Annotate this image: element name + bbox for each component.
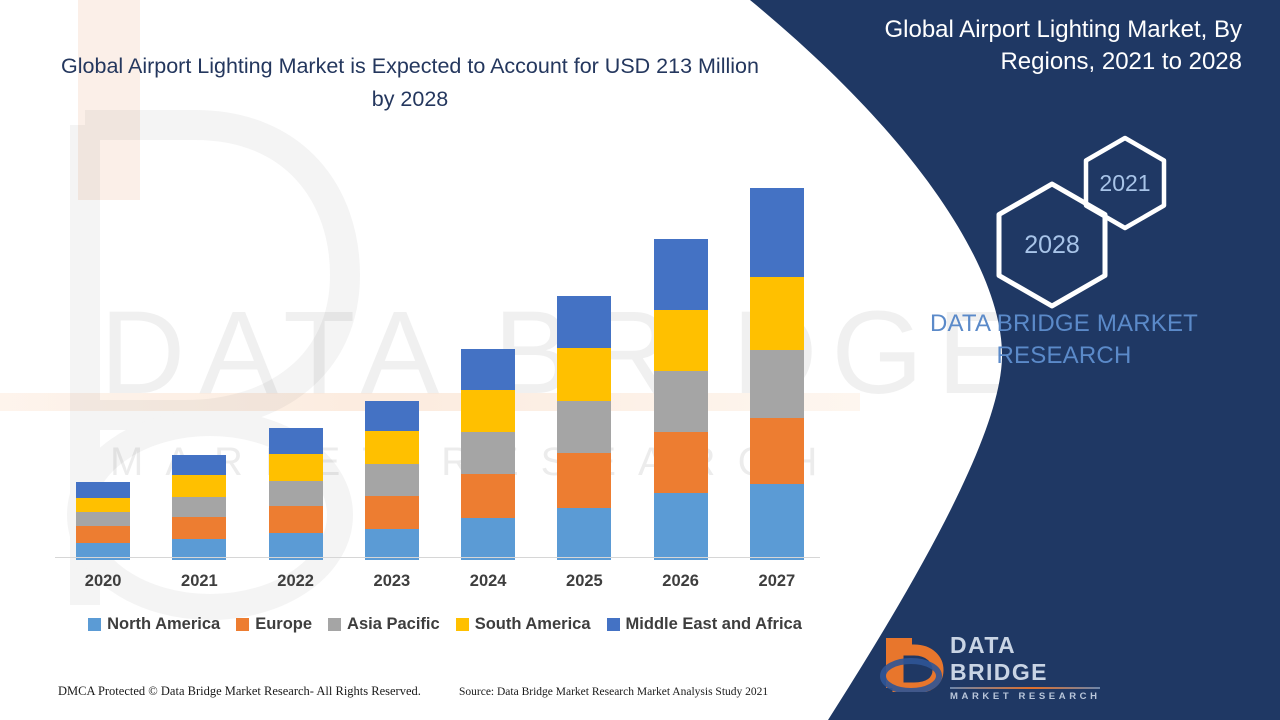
x-tick-2027: 2027 (737, 572, 817, 591)
bar-segment (172, 455, 226, 475)
bar-segment (269, 481, 323, 506)
bar-segment (557, 296, 611, 348)
bar-2022 (269, 428, 323, 560)
bar-segment (365, 401, 419, 431)
legend-swatch-icon (88, 618, 101, 631)
bar-segment (461, 518, 515, 560)
bar-2020 (76, 482, 130, 560)
bar-segment (461, 390, 515, 432)
x-tick-2021: 2021 (159, 572, 239, 591)
bar-segment (365, 464, 419, 496)
bar-segment (654, 239, 708, 310)
bar-segment (654, 493, 708, 560)
legend-swatch-icon (456, 618, 469, 631)
bar-segment (172, 517, 226, 539)
chart-legend: North AmericaEuropeAsia PacificSouth Ame… (55, 615, 835, 634)
legend-item-asia-pacific[interactable]: Asia Pacific (328, 615, 440, 634)
bar-2025 (557, 296, 611, 560)
bar-segment (365, 496, 419, 529)
bar-2024 (461, 349, 515, 560)
bar-segment (654, 310, 708, 371)
bar-segment (269, 454, 323, 481)
logo-divider (950, 687, 1100, 689)
x-tick-2024: 2024 (448, 572, 528, 591)
bar-segment (269, 506, 323, 533)
bar-2027 (750, 188, 804, 560)
legend-label: South America (475, 615, 591, 634)
legend-item-south-america[interactable]: South America (456, 615, 591, 634)
company-logo: DATA BRIDGE MARKET RESEARCH (878, 630, 1108, 692)
bar-segment (557, 348, 611, 401)
bar-2023 (365, 401, 419, 560)
bar-segment (750, 484, 804, 560)
legend-label: North America (107, 615, 220, 634)
legend-label: Asia Pacific (347, 615, 440, 634)
bar-segment (76, 482, 130, 498)
bar-segment (269, 533, 323, 560)
bar-segment (365, 529, 419, 560)
bar-segment (365, 431, 419, 464)
legend-item-north-america[interactable]: North America (88, 615, 220, 634)
legend-label: Middle East and Africa (626, 615, 802, 634)
x-tick-2023: 2023 (352, 572, 432, 591)
bar-segment (269, 428, 323, 454)
bar-segment (461, 432, 515, 474)
x-tick-2026: 2026 (641, 572, 721, 591)
bar-segment (461, 474, 515, 518)
bar-chart-plot-area (55, 170, 825, 560)
footer-source: Source: Data Bridge Market Research Mark… (459, 686, 768, 698)
x-tick-2025: 2025 (544, 572, 624, 591)
bar-segment (557, 508, 611, 560)
bar-segment (654, 371, 708, 432)
bar-segment (750, 418, 804, 484)
brand-name: DATA BRIDGE MARKET RESEARCH (884, 308, 1244, 373)
bar-segment (750, 350, 804, 418)
bar-segment (172, 497, 226, 517)
bar-2021 (172, 455, 226, 560)
bar-segment (750, 188, 804, 277)
bar-segment (76, 498, 130, 512)
logo-text-block: DATA BRIDGE MARKET RESEARCH (950, 632, 1108, 702)
bar-segment (557, 401, 611, 453)
legend-item-middle-east-and-africa[interactable]: Middle East and Africa (607, 615, 802, 634)
bar-segment (172, 475, 226, 497)
x-tick-2020: 2020 (63, 572, 143, 591)
legend-swatch-icon (607, 618, 620, 631)
logo-title: DATA BRIDGE (950, 632, 1108, 686)
bar-segment (557, 453, 611, 508)
bar-segment (76, 512, 130, 526)
panel-title: Global Airport Lighting Market, By Regio… (842, 14, 1242, 78)
logo-subtitle: MARKET RESEARCH (950, 691, 1108, 702)
x-axis-line (55, 557, 820, 558)
legend-swatch-icon (328, 618, 341, 631)
x-tick-2022: 2022 (256, 572, 336, 591)
hexagon-2028: 2028 (995, 180, 1109, 310)
bar-segment (76, 526, 130, 543)
x-axis-tick-labels: 20202021202220232024202520262027 (55, 572, 825, 602)
footer-copyright: DMCA Protected © Data Bridge Market Rese… (58, 684, 421, 699)
legend-label: Europe (255, 615, 312, 634)
bar-segment (654, 432, 708, 493)
bar-segment (461, 349, 515, 390)
databridge-b-icon (878, 630, 944, 692)
bar-segment (750, 277, 804, 350)
page-title: Global Airport Lighting Market is Expect… (60, 50, 760, 117)
hexagon-2028-label: 2028 (995, 180, 1109, 310)
bar-2026 (654, 239, 708, 560)
legend-swatch-icon (236, 618, 249, 631)
legend-item-europe[interactable]: Europe (236, 615, 312, 634)
